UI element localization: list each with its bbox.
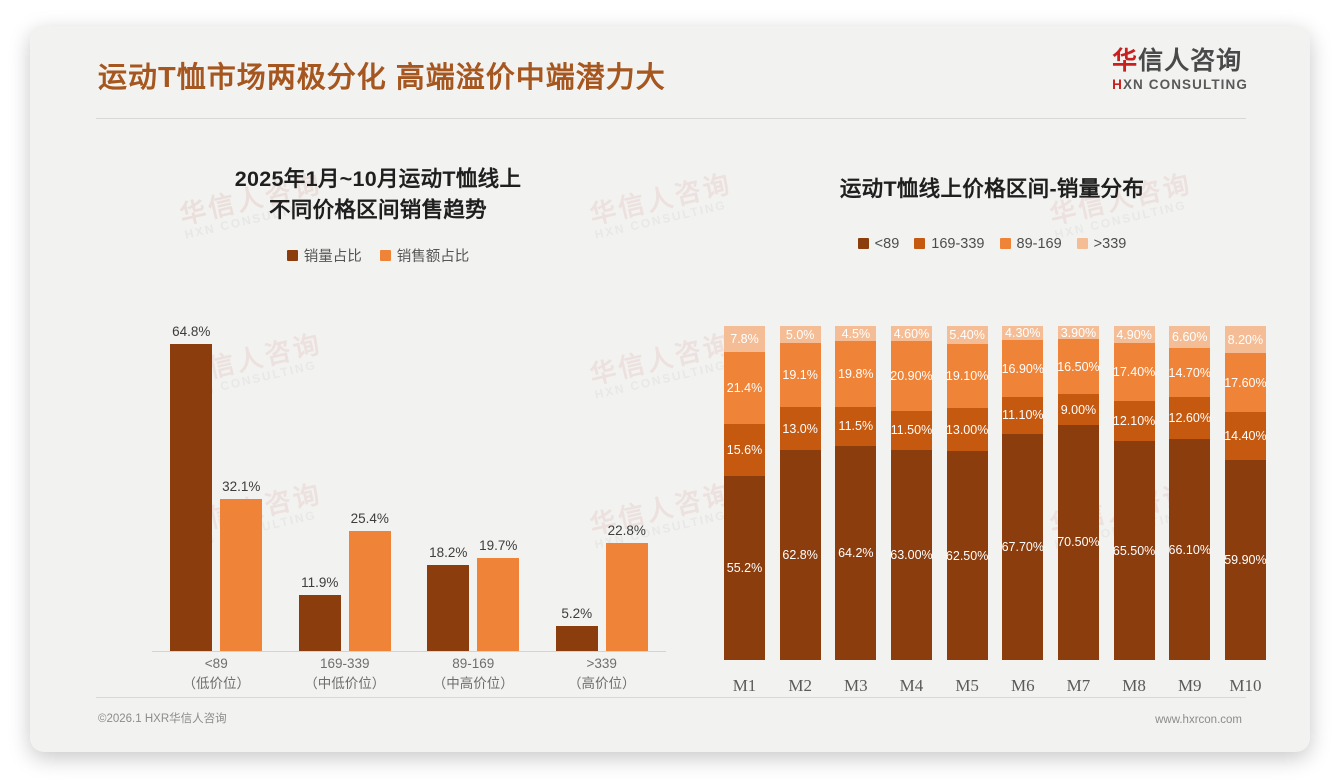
legend-label: 169-339: [931, 236, 984, 252]
footer-divider: [96, 697, 1246, 698]
stack-segment-label: 5.40%: [949, 328, 984, 342]
legend-item-169-339[interactable]: 169-339: [914, 236, 984, 252]
right-chart-panel: 运动T恤线上价格区间-销量分布 <89169-33989-169>339 7.8…: [698, 130, 1286, 710]
bar[interactable]: [299, 595, 341, 651]
bar[interactable]: [220, 499, 262, 651]
bar-column: 11.9%: [299, 320, 341, 651]
bar-column: 25.4%: [349, 320, 391, 651]
x-axis-label: M2: [780, 676, 821, 696]
bar-value-label: 25.4%: [351, 511, 389, 526]
legend-label: 89-169: [1017, 236, 1062, 252]
legend-swatch-icon: [914, 238, 925, 249]
stack-segment-label: 20.90%: [890, 369, 932, 383]
stack-segment[interactable]: 4.30%: [1002, 326, 1043, 340]
stack-segment[interactable]: 16.90%: [1002, 340, 1043, 396]
legend-swatch-icon: [858, 238, 869, 249]
legend-label: >339: [1094, 236, 1127, 252]
brand-logo: 华信人咨询 HXN CONSULTING: [1112, 48, 1248, 92]
stack-segment[interactable]: 4.90%: [1114, 326, 1155, 342]
stacked-bar[interactable]: 8.20%17.60%14.40%59.90%: [1225, 326, 1266, 660]
stack-segment[interactable]: 5.0%: [780, 326, 821, 343]
stack-segment-label: 12.60%: [1169, 411, 1211, 425]
stack-segment[interactable]: 62.8%: [780, 450, 821, 660]
stack-segment-label: 55.2%: [727, 561, 762, 575]
x-axis-label-main: >339: [541, 654, 663, 674]
stack-segment[interactable]: 66.10%: [1169, 439, 1210, 660]
bar-value-label: 22.8%: [608, 523, 646, 538]
legend-label: <89: [875, 236, 900, 252]
logo-english: HXN CONSULTING: [1112, 77, 1248, 92]
x-axis-label: M6: [1002, 676, 1043, 696]
x-axis-labels: M1M2M3M4M5M6M7M8M9M10: [724, 664, 1266, 706]
slide-header: 运动T恤市场两极分化 高端溢价中端潜力大 华信人咨询 HXN CONSULTIN…: [30, 26, 1310, 122]
stacked-bar[interactable]: 4.60%20.90%11.50%63.00%: [891, 326, 932, 660]
stack-segment[interactable]: 19.10%: [947, 344, 988, 408]
stack-segment[interactable]: 67.70%: [1002, 434, 1043, 660]
stack-segment-label: 19.10%: [946, 369, 988, 383]
stacked-bar[interactable]: 3.90%16.50%9.00%70.50%: [1058, 326, 1099, 660]
stack-segment-label: 59.90%: [1224, 553, 1266, 567]
logo-cn-rest: 信人咨询: [1138, 47, 1242, 75]
x-axis-label: M8: [1114, 676, 1155, 696]
stack-segment-label: 11.50%: [891, 423, 932, 437]
stack-segment[interactable]: 4.5%: [835, 326, 876, 341]
stack-segment[interactable]: 62.50%: [947, 451, 988, 660]
stack-segment-label: 66.10%: [1169, 543, 1211, 557]
stack-segment-label: 6.60%: [1172, 330, 1207, 344]
footer-website[interactable]: www.hxrcon.com: [1155, 714, 1242, 726]
stack-segment[interactable]: 70.50%: [1058, 425, 1099, 660]
stack-segment-label: 3.90%: [1061, 326, 1096, 340]
stack-segment[interactable]: 55.2%: [724, 476, 765, 660]
stacked-bar[interactable]: 7.8%21.4%15.6%55.2%: [724, 326, 765, 660]
stacked-bar[interactable]: 6.60%14.70%12.60%66.10%: [1169, 326, 1210, 660]
stack-segment[interactable]: 19.8%: [835, 341, 876, 407]
x-axis-label: M3: [835, 676, 876, 696]
x-axis-label-sub: （中高价位）: [412, 674, 534, 694]
bar-value-label: 19.7%: [479, 538, 517, 553]
legend-item-revenue[interactable]: 销售额占比: [380, 245, 470, 266]
legend-swatch-icon: [1077, 238, 1088, 249]
bar-value-label: 32.1%: [222, 479, 260, 494]
stack-segment[interactable]: 65.50%: [1114, 441, 1155, 660]
x-axis-label-main: 89-169: [412, 654, 534, 674]
left-chart-panel: 2025年1月~10月运动T恤线上 不同价格区间销售趋势 销量占比 销售额占比 …: [68, 130, 688, 710]
stack-segment[interactable]: 11.5%: [835, 407, 876, 445]
stacked-bar[interactable]: 4.90%17.40%12.10%65.50%: [1114, 326, 1155, 660]
bar[interactable]: [477, 558, 519, 651]
stack-segment[interactable]: 15.6%: [724, 424, 765, 476]
stack-segment-label: 4.90%: [1116, 328, 1151, 342]
stack-segment-label: 63.00%: [890, 548, 932, 562]
bar-value-label: 5.2%: [561, 606, 592, 621]
x-axis-label: <89（低价位）: [155, 654, 277, 706]
stack-segment[interactable]: 17.40%: [1114, 343, 1155, 401]
legend-label: 销售额占比: [397, 245, 470, 266]
legend-item-volume[interactable]: 销量占比: [287, 245, 362, 266]
stack-segment-label: 14.70%: [1169, 366, 1211, 380]
stack-segment-label: 11.10%: [1002, 408, 1043, 422]
stack-segment-label: 13.00%: [946, 423, 988, 437]
x-axis-label: 89-169（中高价位）: [412, 654, 534, 706]
bar-column: 64.8%: [170, 320, 212, 651]
left-chart-plot: 64.8%32.1%11.9%25.4%18.2%19.7%5.2%22.8% …: [68, 320, 688, 706]
bar-group-bars: 64.8%32.1%: [155, 320, 277, 651]
stack-segment-label: 4.5%: [842, 327, 871, 341]
header-divider: [96, 118, 1246, 119]
stack-segment-label: 70.50%: [1057, 535, 1099, 549]
stack-segment-label: 8.20%: [1228, 333, 1263, 347]
bar-column: 22.8%: [606, 320, 648, 651]
page-title: 运动T恤市场两极分化 高端溢价中端潜力大: [98, 54, 666, 96]
stack-segment-label: 13.0%: [782, 422, 817, 436]
stack-segment[interactable]: 63.00%: [891, 450, 932, 660]
stack-segment-label: 62.50%: [946, 549, 988, 563]
logo-chinese: 华信人咨询: [1112, 48, 1248, 74]
stack-segment-label: 4.60%: [894, 327, 929, 341]
bar-column: 32.1%: [220, 320, 262, 651]
stack-segment-label: 16.50%: [1057, 360, 1099, 374]
x-axis-label: M4: [891, 676, 932, 696]
bar-value-label: 64.8%: [172, 324, 210, 339]
bar-groups: 64.8%32.1%11.9%25.4%18.2%19.7%5.2%22.8%: [152, 320, 666, 651]
stack-segment-label: 17.60%: [1224, 376, 1266, 390]
stack-segment[interactable]: 9.00%: [1058, 394, 1099, 424]
stacked-bar[interactable]: 4.30%16.90%11.10%67.70%: [1002, 326, 1043, 660]
x-axis-label-sub: （高价位）: [541, 674, 663, 694]
stack-segment-label: 62.8%: [782, 548, 817, 562]
stack-segment[interactable]: 14.40%: [1225, 412, 1266, 460]
stack-segment[interactable]: 12.60%: [1169, 397, 1210, 439]
stack-segment-label: 12.10%: [1113, 414, 1155, 428]
x-axis-label: M5: [947, 676, 988, 696]
x-axis-label: M9: [1169, 676, 1210, 696]
stack-segment[interactable]: 4.60%: [891, 326, 932, 341]
bar[interactable]: [349, 531, 391, 651]
x-axis-label: M1: [724, 676, 765, 696]
stacked-bar[interactable]: 4.5%19.8%11.5%64.2%: [835, 326, 876, 660]
stack-segment[interactable]: 64.2%: [835, 446, 876, 660]
stack-segment-label: 5.0%: [786, 328, 815, 342]
slide-canvas: 华信人咨询 HXN CONSULTING 华信人咨询 HXN CONSULTIN…: [30, 26, 1310, 752]
x-axis-label: M7: [1058, 676, 1099, 696]
bar-group: 11.9%25.4%: [284, 320, 406, 651]
stack-segment-label: 19.8%: [838, 367, 873, 381]
legend-item-339[interactable]: >339: [1077, 236, 1127, 252]
left-chart-title: 2025年1月~10月运动T恤线上 不同价格区间销售趋势: [68, 130, 688, 225]
stack-segment[interactable]: 7.8%: [724, 326, 765, 352]
x-axis-label-main: <89: [155, 654, 277, 674]
stacked-bars: 7.8%21.4%15.6%55.2%5.0%19.1%13.0%62.8%4.…: [724, 326, 1266, 660]
left-chart-legend: 销量占比 销售额占比: [68, 245, 688, 266]
stack-segment-label: 4.30%: [1005, 326, 1040, 340]
stack-segment[interactable]: 19.1%: [780, 343, 821, 407]
legend-swatch-icon: [380, 250, 391, 261]
stack-segment-label: 21.4%: [727, 381, 762, 395]
bar[interactable]: [556, 626, 598, 651]
legend-item-89[interactable]: <89: [858, 236, 900, 252]
stack-segment[interactable]: 3.90%: [1058, 326, 1099, 339]
stacked-bar[interactable]: 5.40%19.10%13.00%62.50%: [947, 326, 988, 660]
left-chart-title-line1: 2025年1月~10月运动T恤线上: [68, 164, 688, 195]
stack-segment[interactable]: 17.60%: [1225, 353, 1266, 412]
stack-segment-label: 7.8%: [730, 332, 759, 346]
logo-en-rest: XN CONSULTING: [1123, 77, 1248, 92]
bar-column: 19.7%: [477, 320, 519, 651]
stack-segment[interactable]: 8.20%: [1225, 326, 1266, 353]
x-axis-label-main: 169-339: [284, 654, 406, 674]
logo-en-accent: H: [1112, 77, 1123, 92]
stack-segment[interactable]: 13.0%: [780, 407, 821, 450]
stack-segment[interactable]: 16.50%: [1058, 339, 1099, 394]
stack-segment-label: 64.2%: [838, 546, 873, 560]
stack-segment[interactable]: 20.90%: [891, 341, 932, 411]
legend-swatch-icon: [287, 250, 298, 261]
legend-swatch-icon: [1000, 238, 1011, 249]
x-axis-label: >339（高价位）: [541, 654, 663, 706]
stack-segment[interactable]: 14.70%: [1169, 348, 1210, 397]
x-axis-label: M10: [1225, 676, 1266, 696]
stacked-bar[interactable]: 5.0%19.1%13.0%62.8%: [780, 326, 821, 660]
bar-column: 5.2%: [556, 320, 598, 651]
stack-segment[interactable]: 5.40%: [947, 326, 988, 344]
footer-copyright: ©2026.1 HXR华信人咨询: [98, 710, 227, 726]
stack-segment-label: 9.00%: [1061, 403, 1096, 417]
bar-group-bars: 18.2%19.7%: [412, 320, 534, 651]
bar-group: 64.8%32.1%: [155, 320, 277, 651]
bar-value-label: 11.9%: [301, 575, 338, 590]
stack-segment-label: 67.70%: [1002, 540, 1044, 554]
x-axis-labels: <89（低价位）169-339（中低价位）89-169（中高价位）>339（高价…: [152, 654, 666, 706]
bar-column: 18.2%: [427, 320, 469, 651]
bar-group: 18.2%19.7%: [412, 320, 534, 651]
stack-segment[interactable]: 11.50%: [891, 411, 932, 449]
bar[interactable]: [170, 344, 212, 651]
stack-segment[interactable]: 11.10%: [1002, 397, 1043, 434]
right-chart-legend: <89169-33989-169>339: [698, 236, 1286, 252]
bar[interactable]: [427, 565, 469, 651]
legend-item-89-169[interactable]: 89-169: [1000, 236, 1062, 252]
right-chart-plot: 7.8%21.4%15.6%55.2%5.0%19.1%13.0%62.8%4.…: [710, 326, 1274, 706]
stack-segment-label: 16.90%: [1002, 362, 1044, 376]
x-axis-line: [152, 651, 666, 652]
legend-label: 销量占比: [304, 245, 362, 266]
stack-segment[interactable]: 13.00%: [947, 408, 988, 451]
logo-cn-accent: 华: [1112, 47, 1138, 75]
stack-segment[interactable]: 21.4%: [724, 352, 765, 423]
stack-segment-label: 11.5%: [839, 419, 874, 433]
stack-segment-label: 14.40%: [1224, 429, 1266, 443]
bar[interactable]: [606, 543, 648, 651]
bar-value-label: 18.2%: [429, 545, 467, 560]
bar-group-bars: 11.9%25.4%: [284, 320, 406, 651]
stack-segment-label: 19.1%: [782, 368, 817, 382]
stack-segment-label: 65.50%: [1113, 544, 1155, 558]
bar-group: 5.2%22.8%: [541, 320, 663, 651]
stack-segment-label: 15.6%: [727, 443, 762, 457]
right-chart-title: 运动T恤线上价格区间-销量分布: [698, 130, 1286, 205]
bar-group-bars: 5.2%22.8%: [541, 320, 663, 651]
stack-segment-label: 17.40%: [1113, 365, 1155, 379]
x-axis-label-sub: （低价位）: [155, 674, 277, 694]
stack-segment[interactable]: 12.10%: [1114, 401, 1155, 441]
x-axis-label: 169-339（中低价位）: [284, 654, 406, 706]
left-chart-title-line2: 不同价格区间销售趋势: [68, 195, 688, 226]
x-axis-label-sub: （中低价位）: [284, 674, 406, 694]
stack-segment[interactable]: 59.90%: [1225, 460, 1266, 660]
stack-segment[interactable]: 6.60%: [1169, 326, 1210, 348]
